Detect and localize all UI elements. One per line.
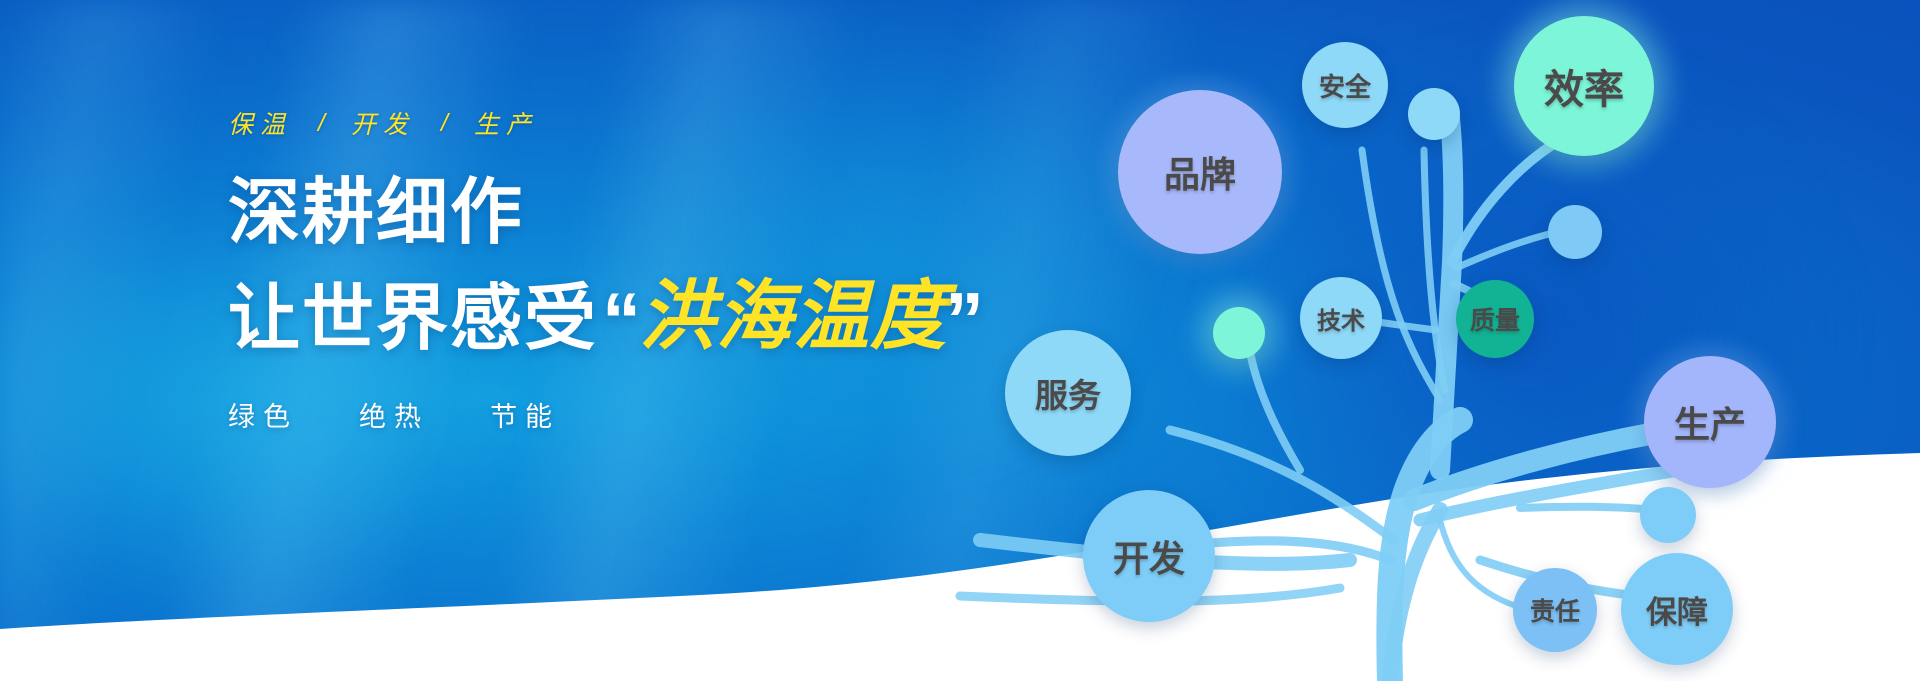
quote-open-mark: “ (602, 285, 641, 355)
bubble-label: 效率 (1544, 57, 1624, 115)
eyebrow-tagline: 保温 / 开发 / 生产 (228, 105, 1128, 141)
headline-block: 保温 / 开发 / 生产 深耕细作 让世界感受 “ 洪海温度 ” 绿色 绝热 节… (228, 105, 1128, 434)
eyebrow-item-1: 开发 (351, 105, 415, 141)
bubble-责任[interactable]: 责任 (1513, 568, 1597, 652)
bubble-label: 责任 (1530, 592, 1580, 628)
bubble-效率[interactable]: 效率 (1514, 16, 1654, 156)
bubble-品牌[interactable]: 品牌 (1118, 90, 1282, 254)
bubble-label: 技术 (1317, 301, 1365, 336)
eyebrow-separator-0: / (318, 109, 325, 138)
headline-brand-accent: 洪海温度 (639, 279, 947, 355)
bubble-保障[interactable]: 保障 (1621, 553, 1733, 665)
eyebrow-item-2: 生产 (474, 105, 538, 141)
subline-item-0: 绿色 (228, 402, 298, 432)
bubble-decorative-dot (1640, 487, 1696, 543)
subline-item-1: 绝热 (359, 402, 429, 432)
bubble-label: 质量 (1470, 301, 1520, 337)
subline-item-2: 节能 (490, 402, 560, 432)
bubble-decorative-dot (1408, 88, 1460, 140)
subline-keywords: 绿色 绝热 节能 (228, 395, 1128, 434)
bubble-decorative-dot (1548, 205, 1602, 259)
bubble-label: 安全 (1319, 67, 1371, 104)
bubble-生产[interactable]: 生产 (1644, 356, 1776, 488)
bubble-decorative-dot (1213, 307, 1265, 359)
bubble-label: 品牌 (1164, 146, 1236, 198)
promotional-banner: 保温 / 开发 / 生产 深耕细作 让世界感受 “ 洪海温度 ” 绿色 绝热 节… (0, 0, 1920, 681)
bubble-label: 开发 (1113, 530, 1185, 582)
eyebrow-item-0: 保温 (228, 105, 292, 141)
quote-close-mark: ” (945, 285, 984, 355)
bubble-技术[interactable]: 技术 (1300, 277, 1382, 359)
bubble-开发[interactable]: 开发 (1083, 490, 1215, 622)
headline-line-2: 让世界感受 “ 洪海温度 ” (228, 279, 1128, 355)
bubble-label: 保障 (1646, 587, 1708, 632)
eyebrow-separator-1: / (441, 109, 448, 138)
headline-line-1: 深耕细作 (228, 177, 1128, 249)
bubble-安全[interactable]: 安全 (1302, 42, 1388, 128)
bubble-label: 生产 (1674, 396, 1746, 448)
bubble-质量[interactable]: 质量 (1456, 280, 1534, 358)
headline-line-2-plain: 让世界感受 (228, 283, 598, 355)
